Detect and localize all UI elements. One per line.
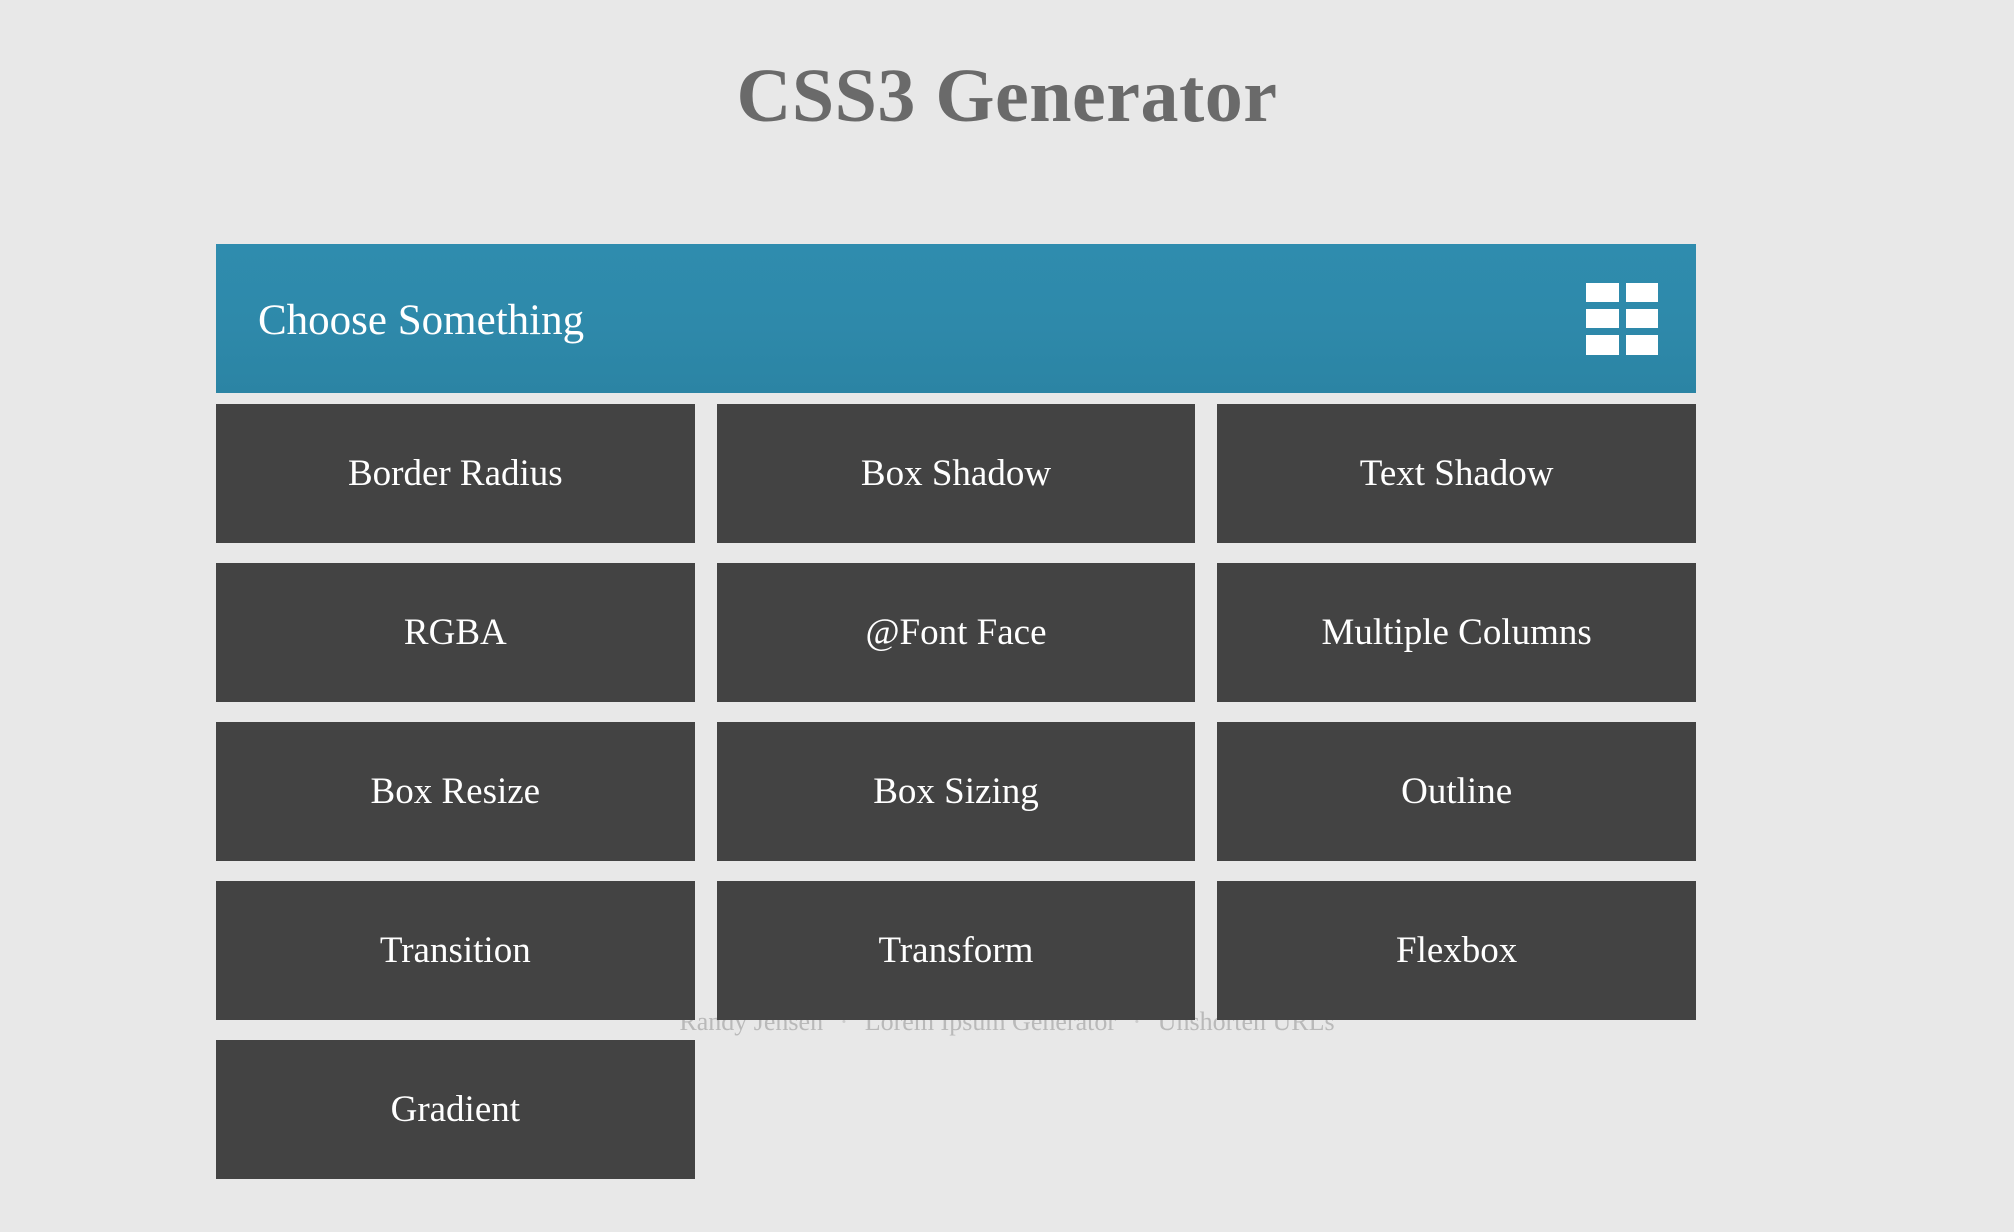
grid-icon[interactable] <box>1586 283 1658 355</box>
tile-text-shadow[interactable]: Text Shadow <box>1217 404 1696 543</box>
tile-gradient[interactable]: Gradient <box>216 1040 695 1179</box>
generator-panel: Choose Something Border Radius Box Shado… <box>216 244 1696 1179</box>
tile-transform[interactable]: Transform <box>717 881 1196 1020</box>
grid-icon-cell <box>1626 335 1659 354</box>
grid-icon-cell <box>1626 283 1659 302</box>
tile-border-radius[interactable]: Border Radius <box>216 404 695 543</box>
tile-box-shadow[interactable]: Box Shadow <box>717 404 1196 543</box>
tile-font-face[interactable]: @Font Face <box>717 563 1196 702</box>
tile-flexbox[interactable]: Flexbox <box>1217 881 1696 1020</box>
panel-header-title: Choose Something <box>258 299 584 342</box>
tile-outline[interactable]: Outline <box>1217 722 1696 861</box>
tile-transition[interactable]: Transition <box>216 881 695 1020</box>
grid-icon-cell <box>1586 309 1619 328</box>
tile-rgba[interactable]: RGBA <box>216 563 695 702</box>
tile-box-resize[interactable]: Box Resize <box>216 722 695 861</box>
grid-icon-cell <box>1626 309 1659 328</box>
grid-icon-cell <box>1586 283 1619 302</box>
grid-icon-cell <box>1586 335 1619 354</box>
page-title: CSS3 Generator <box>0 0 2014 134</box>
panel-header: Choose Something <box>216 244 1696 393</box>
tile-multiple-columns[interactable]: Multiple Columns <box>1217 563 1696 702</box>
generator-tile-grid: Border Radius Box Shadow Text Shadow RGB… <box>216 404 1696 1179</box>
tile-box-sizing[interactable]: Box Sizing <box>717 722 1196 861</box>
